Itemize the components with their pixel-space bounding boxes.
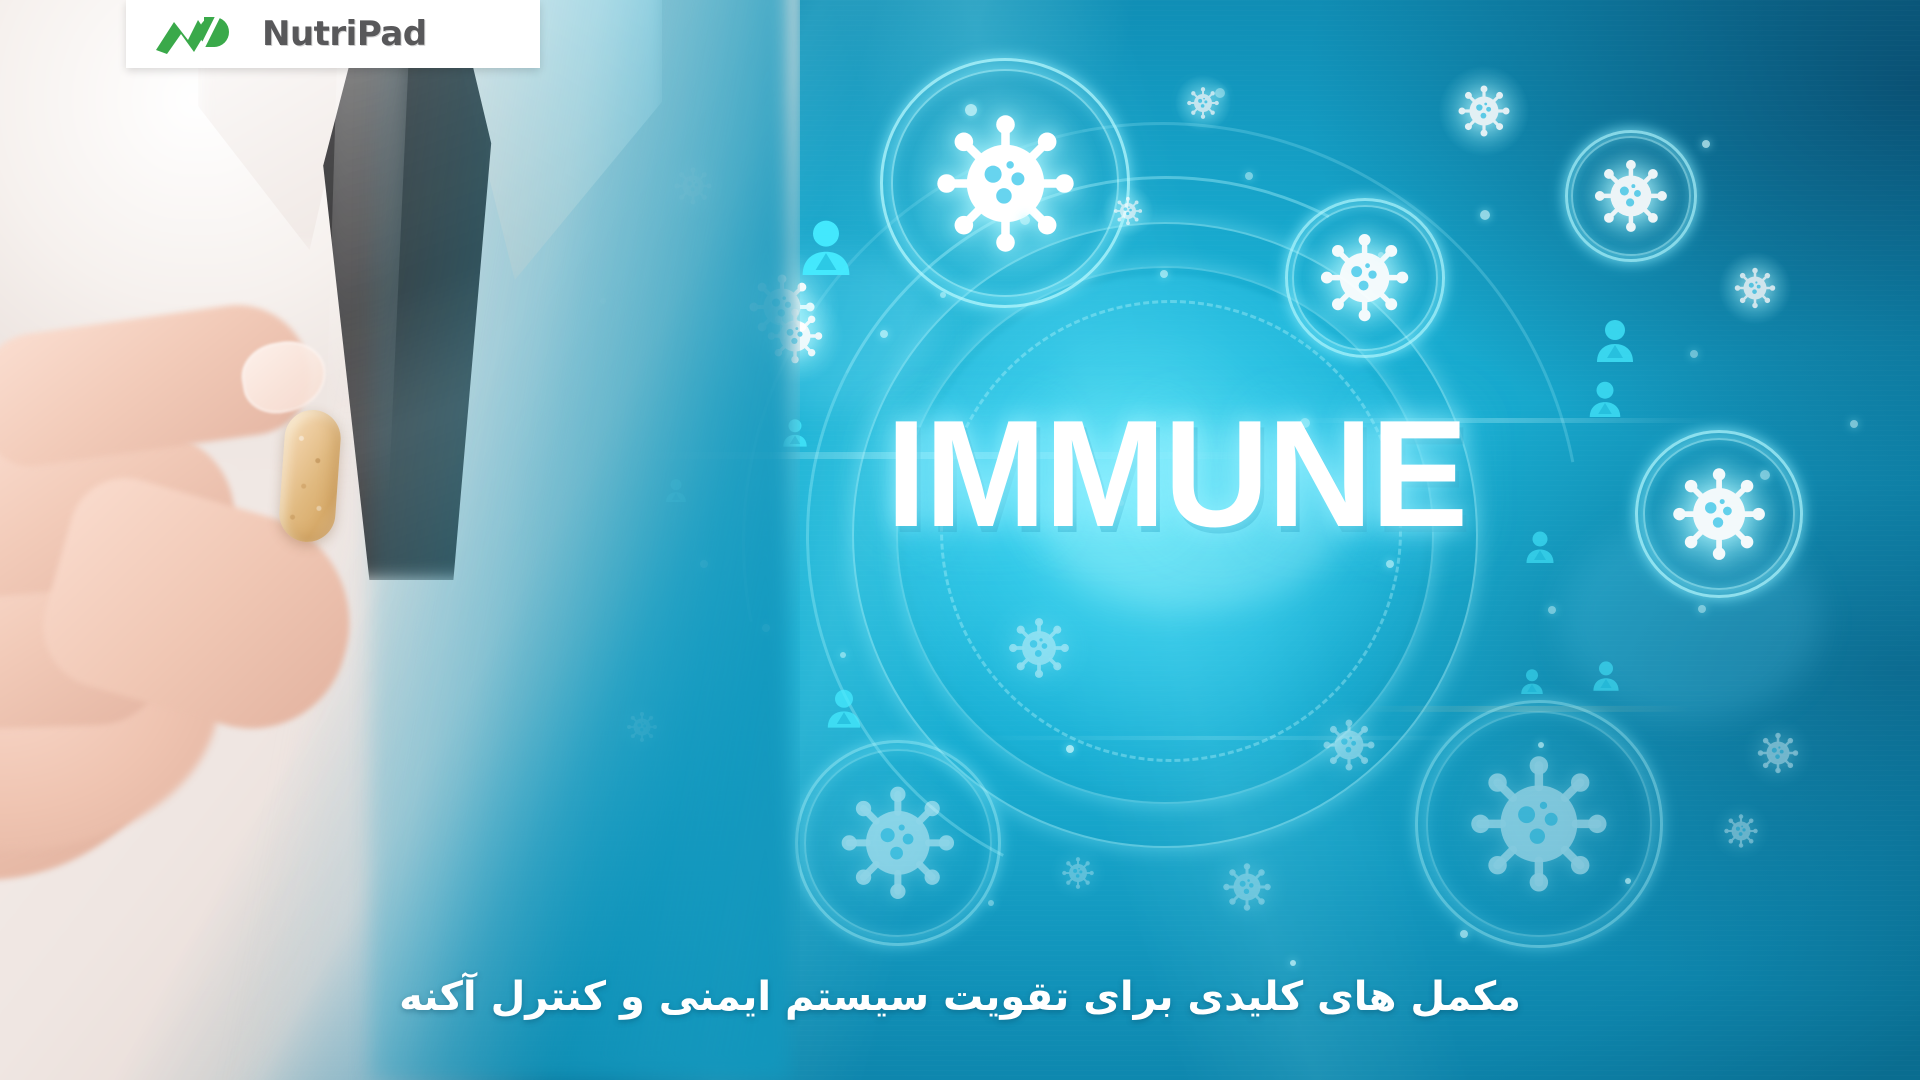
- glow-particle-icon: [1480, 210, 1490, 220]
- photo-edge-blend: [370, 0, 790, 1080]
- person-icon: [1525, 530, 1555, 568]
- glow-particle-icon: [988, 900, 994, 906]
- person-icon: [826, 688, 862, 733]
- brand-logo[interactable]: NutriPad: [126, 0, 540, 68]
- virus-icon: [1320, 716, 1378, 774]
- virus-icon: [1755, 730, 1801, 776]
- brand-name: NutriPad: [262, 14, 427, 54]
- virus-icon: [1732, 265, 1778, 311]
- glow-particle-icon: [1290, 960, 1296, 966]
- glow-particle-icon: [1160, 270, 1168, 278]
- glow-particle-icon: [940, 292, 946, 298]
- glow-particle-icon: [965, 104, 977, 116]
- virus-icon: [1722, 812, 1760, 850]
- doctor-photo: [0, 0, 800, 1080]
- virus-icon-ringed: [1285, 198, 1445, 358]
- subtitle-persian: مکمل های کلیدی برای تقویت سیستم ایمنی و …: [0, 972, 1920, 1022]
- glow-particle-icon: [1625, 878, 1631, 884]
- virus-icon-ringed: [880, 58, 1130, 308]
- glow-particle-icon: [1538, 742, 1544, 748]
- glow-particle-icon: [1245, 172, 1253, 180]
- virus-icon-ringed: [795, 740, 1001, 946]
- virus-icon: [1005, 614, 1073, 682]
- glow-particle-icon: [1066, 745, 1074, 753]
- glow-particle-icon: [1698, 605, 1706, 613]
- headline-immune: IMMUNE: [886, 398, 1466, 550]
- glow-particle-icon: [1690, 350, 1698, 358]
- person-icon: [1588, 380, 1622, 422]
- glow-particle-icon: [1548, 606, 1556, 614]
- glow-particle-icon: [880, 330, 888, 338]
- virus-icon-ringed: [1635, 430, 1803, 598]
- person-icon: [1520, 668, 1544, 699]
- supplement-pill: [277, 408, 342, 544]
- immune-banner: NutriPad IMMUNE مکمل های کلیدی برای تقوی…: [0, 0, 1920, 1080]
- virus-icon: [1112, 195, 1144, 227]
- virus-icon-ringed: [1565, 130, 1697, 262]
- virus-icon: [1220, 860, 1274, 914]
- glow-particle-icon: [1702, 140, 1710, 148]
- glow-particle-icon: [1850, 420, 1858, 428]
- virus-icon: [1455, 82, 1513, 140]
- glow-particle-icon: [1020, 215, 1030, 225]
- glow-particle-icon: [1215, 88, 1225, 98]
- glow-particle-icon: [1378, 252, 1384, 258]
- person-icon: [800, 218, 852, 280]
- glow-particle-icon: [840, 652, 846, 658]
- person-icon: [1595, 318, 1635, 367]
- person-icon: [1592, 660, 1620, 696]
- glow-particle-icon: [1386, 560, 1394, 568]
- pill-texture: [277, 408, 342, 544]
- glow-particle-icon: [1460, 930, 1468, 938]
- nutripad-arrow-mark-icon: [154, 14, 240, 54]
- virus-icon-ringed: [1415, 700, 1663, 948]
- glow-particle-icon: [1760, 470, 1770, 480]
- virus-icon: [1060, 855, 1096, 891]
